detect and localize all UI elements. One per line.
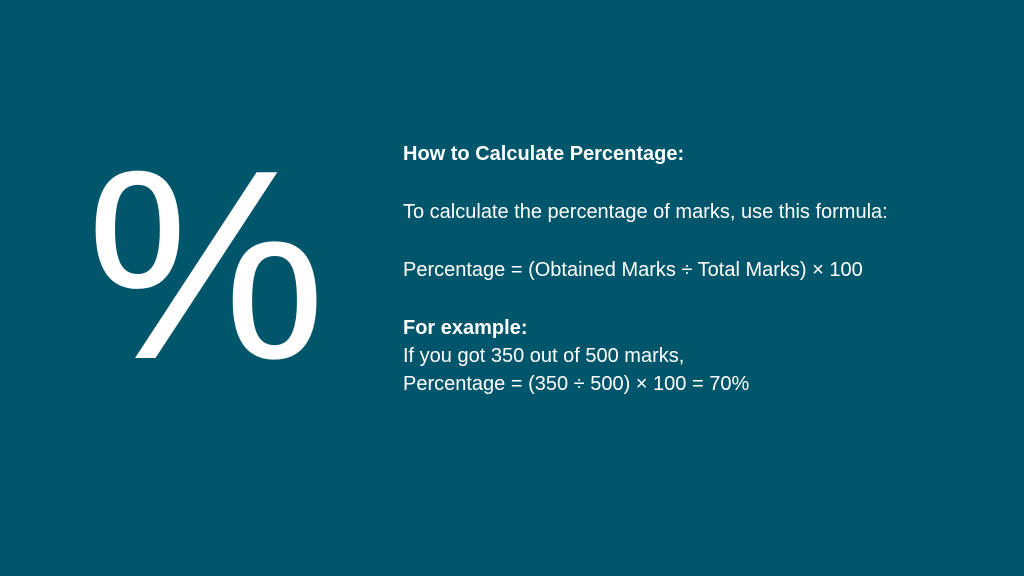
example-result-text: Percentage = (350 ÷ 500) × 100 = 70% [403, 370, 1003, 398]
percentage-explainer-slide: % How to Calculate Percentage: To calcul… [0, 0, 1024, 576]
explanation-text-column: How to Calculate Percentage: To calculat… [403, 140, 1003, 398]
percent-symbol-icon: % [86, 136, 306, 396]
formula-text: Percentage = (Obtained Marks ÷ Total Mar… [403, 256, 1003, 284]
example-label: For example: [403, 314, 1003, 342]
page-title: How to Calculate Percentage: [403, 140, 1003, 168]
example-given-text: If you got 350 out of 500 marks, [403, 342, 1003, 370]
intro-text: To calculate the percentage of marks, us… [403, 198, 1003, 226]
